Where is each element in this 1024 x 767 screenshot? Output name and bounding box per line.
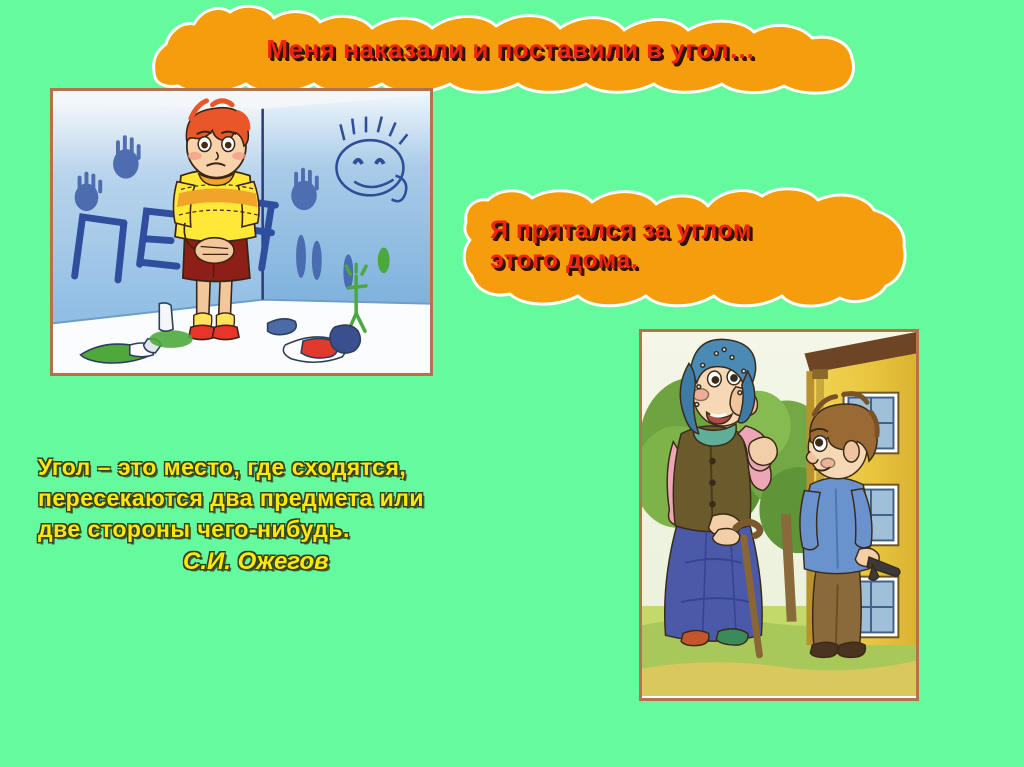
definition-author: С.И. Ожегов bbox=[183, 545, 598, 579]
slide-canvas: Меня наказали и поставили в угол… Я прят… bbox=[0, 0, 1024, 767]
corner-punishment-image bbox=[50, 88, 433, 376]
title-callout-text: Меня наказали и поставили в угол… bbox=[196, 34, 826, 65]
definition-block: Угол – это место, где сходятся, пересека… bbox=[38, 452, 598, 579]
grandmother-boy-image bbox=[639, 329, 919, 701]
definition-line-3: две стороны чего-нибудь. bbox=[38, 514, 598, 545]
definition-line-1: Угол – это место, где сходятся, bbox=[38, 452, 598, 483]
corner-punishment-artwork bbox=[53, 91, 430, 374]
title-callout-bubble: Меня наказали и поставили в угол… bbox=[148, 0, 858, 96]
grandmother-boy-artwork bbox=[642, 332, 916, 696]
definition-line-2: пересекаются два предмета или bbox=[38, 483, 598, 514]
hide-callout-text: Я прятался за углом этого дома. bbox=[490, 216, 870, 275]
hide-callout-bubble: Я прятался за углом этого дома. bbox=[458, 182, 910, 314]
